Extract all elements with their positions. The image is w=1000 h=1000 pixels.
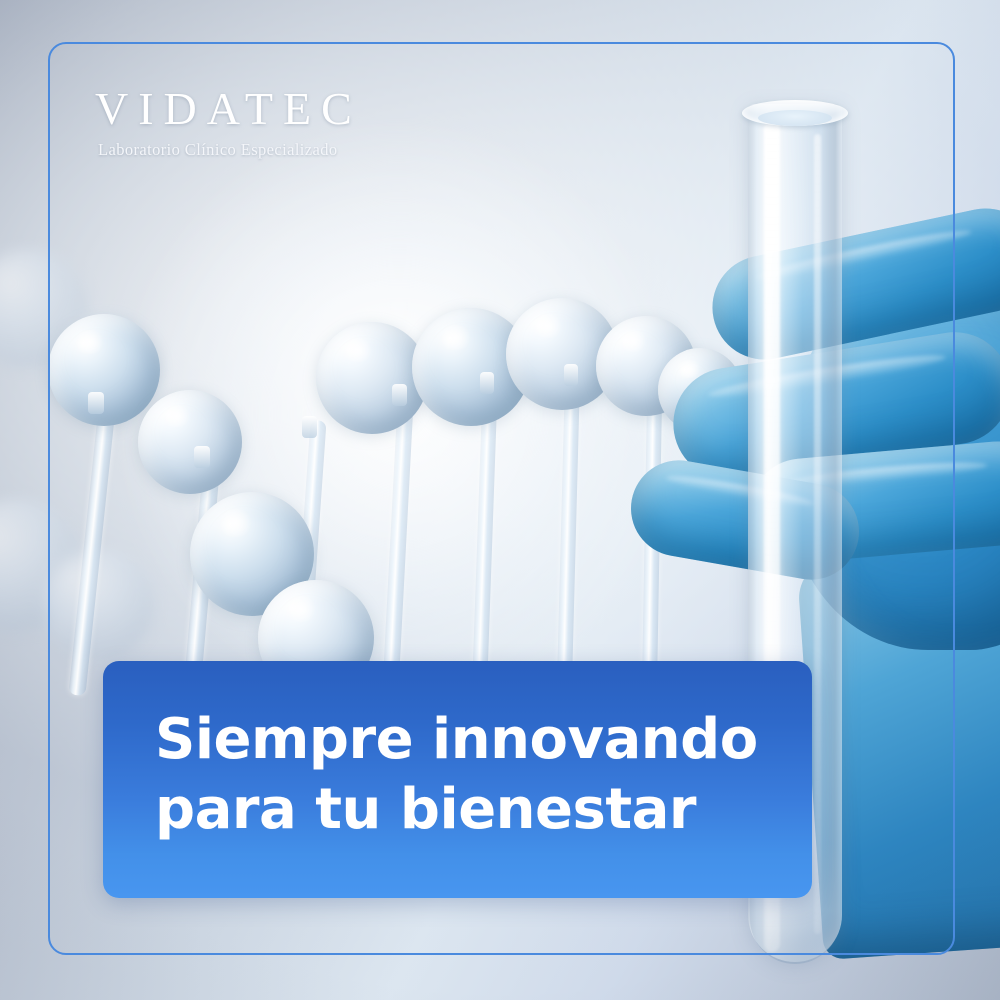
poster-canvas: VIDATEC Laboratorio Clínico Especializad… [0,0,1000,1000]
brand-logo: VIDATEC Laboratorio Clínico Especializad… [95,86,362,160]
brand-name: VIDATEC [95,86,362,132]
headline-banner: Siempre innovando para tu bienestar [103,661,812,898]
brand-tagline: Laboratorio Clínico Especializado [98,140,362,160]
headline-line-1: Siempre innovando [155,705,812,775]
headline-line-2: para tu bienestar [155,775,812,845]
